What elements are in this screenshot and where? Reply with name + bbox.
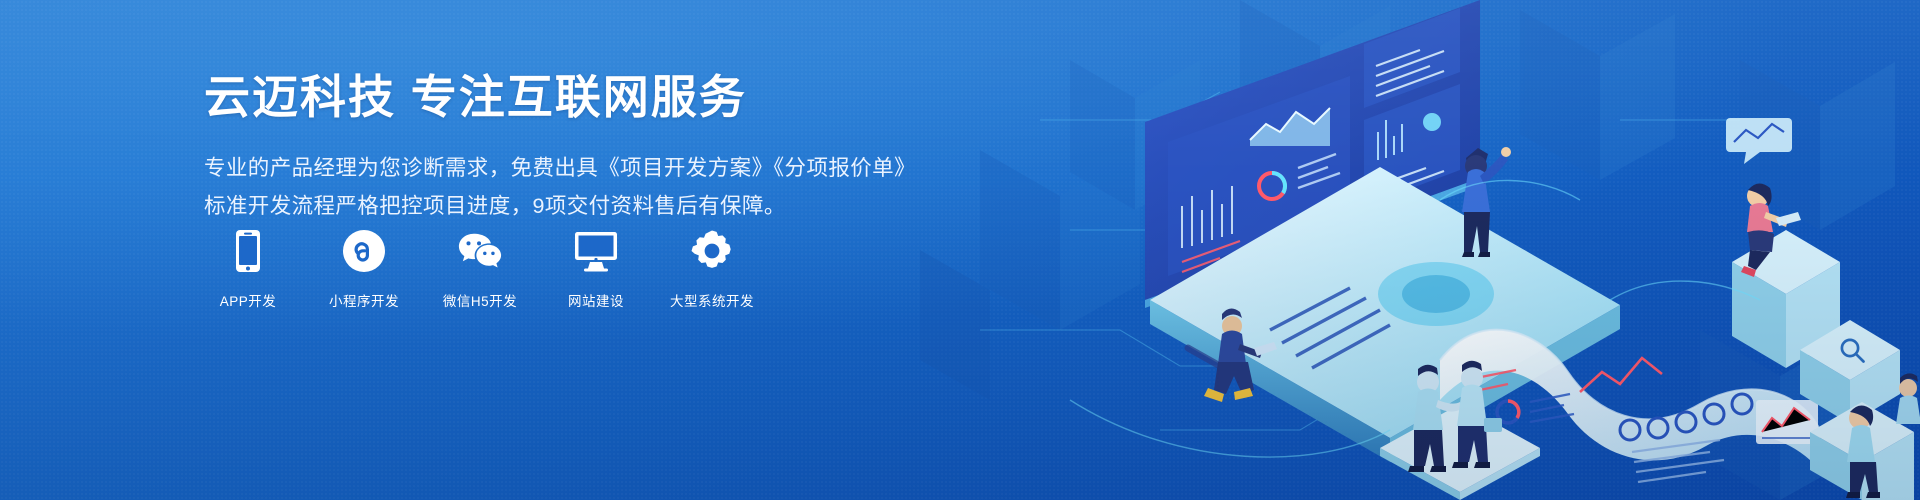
subcopy-line-2: 标准开发流程严格把控项目进度，9项交付资料售后有保障。 [204, 188, 964, 226]
gear-icon [689, 228, 735, 274]
service-item-miniprogram[interactable]: 小程序开发 [316, 228, 412, 310]
service-label: 微信H5开发 [443, 290, 517, 310]
service-list: APP开发 小程序开发 [200, 228, 760, 310]
hero-content: 云迈科技 专注互联网服务 专业的产品经理为您诊断需求，免费出具《项目开发方案》《… [204, 70, 964, 226]
mobile-phone-icon [225, 228, 271, 274]
subcopy-line-1: 专业的产品经理为您诊断需求，免费出具《项目开发方案》《分项报价单》 [204, 150, 964, 188]
service-item-website[interactable]: 网站建设 [548, 228, 644, 310]
service-label: APP开发 [220, 290, 277, 310]
service-label: 网站建设 [568, 290, 624, 310]
isometric-illustration [920, 0, 1920, 500]
mini-chart-card [1756, 400, 1818, 444]
hero-subcopy: 专业的产品经理为您诊断需求，免费出具《项目开发方案》《分项报价单》 标准开发流程… [204, 150, 964, 225]
service-item-app[interactable]: APP开发 [200, 228, 296, 310]
page-title: 云迈科技 专注互联网服务 [204, 70, 964, 124]
monitor-icon [573, 228, 619, 274]
service-label: 小程序开发 [329, 290, 399, 310]
wechat-icon [457, 228, 503, 274]
service-item-wechat-h5[interactable]: 微信H5开发 [432, 228, 528, 310]
service-label: 大型系统开发 [670, 290, 754, 310]
mini-program-icon [341, 228, 387, 274]
service-item-large-system[interactable]: 大型系统开发 [664, 228, 760, 310]
hero-banner: 云迈科技 专注互联网服务 专业的产品经理为您诊断需求，免费出具《项目开发方案》《… [0, 0, 1920, 500]
